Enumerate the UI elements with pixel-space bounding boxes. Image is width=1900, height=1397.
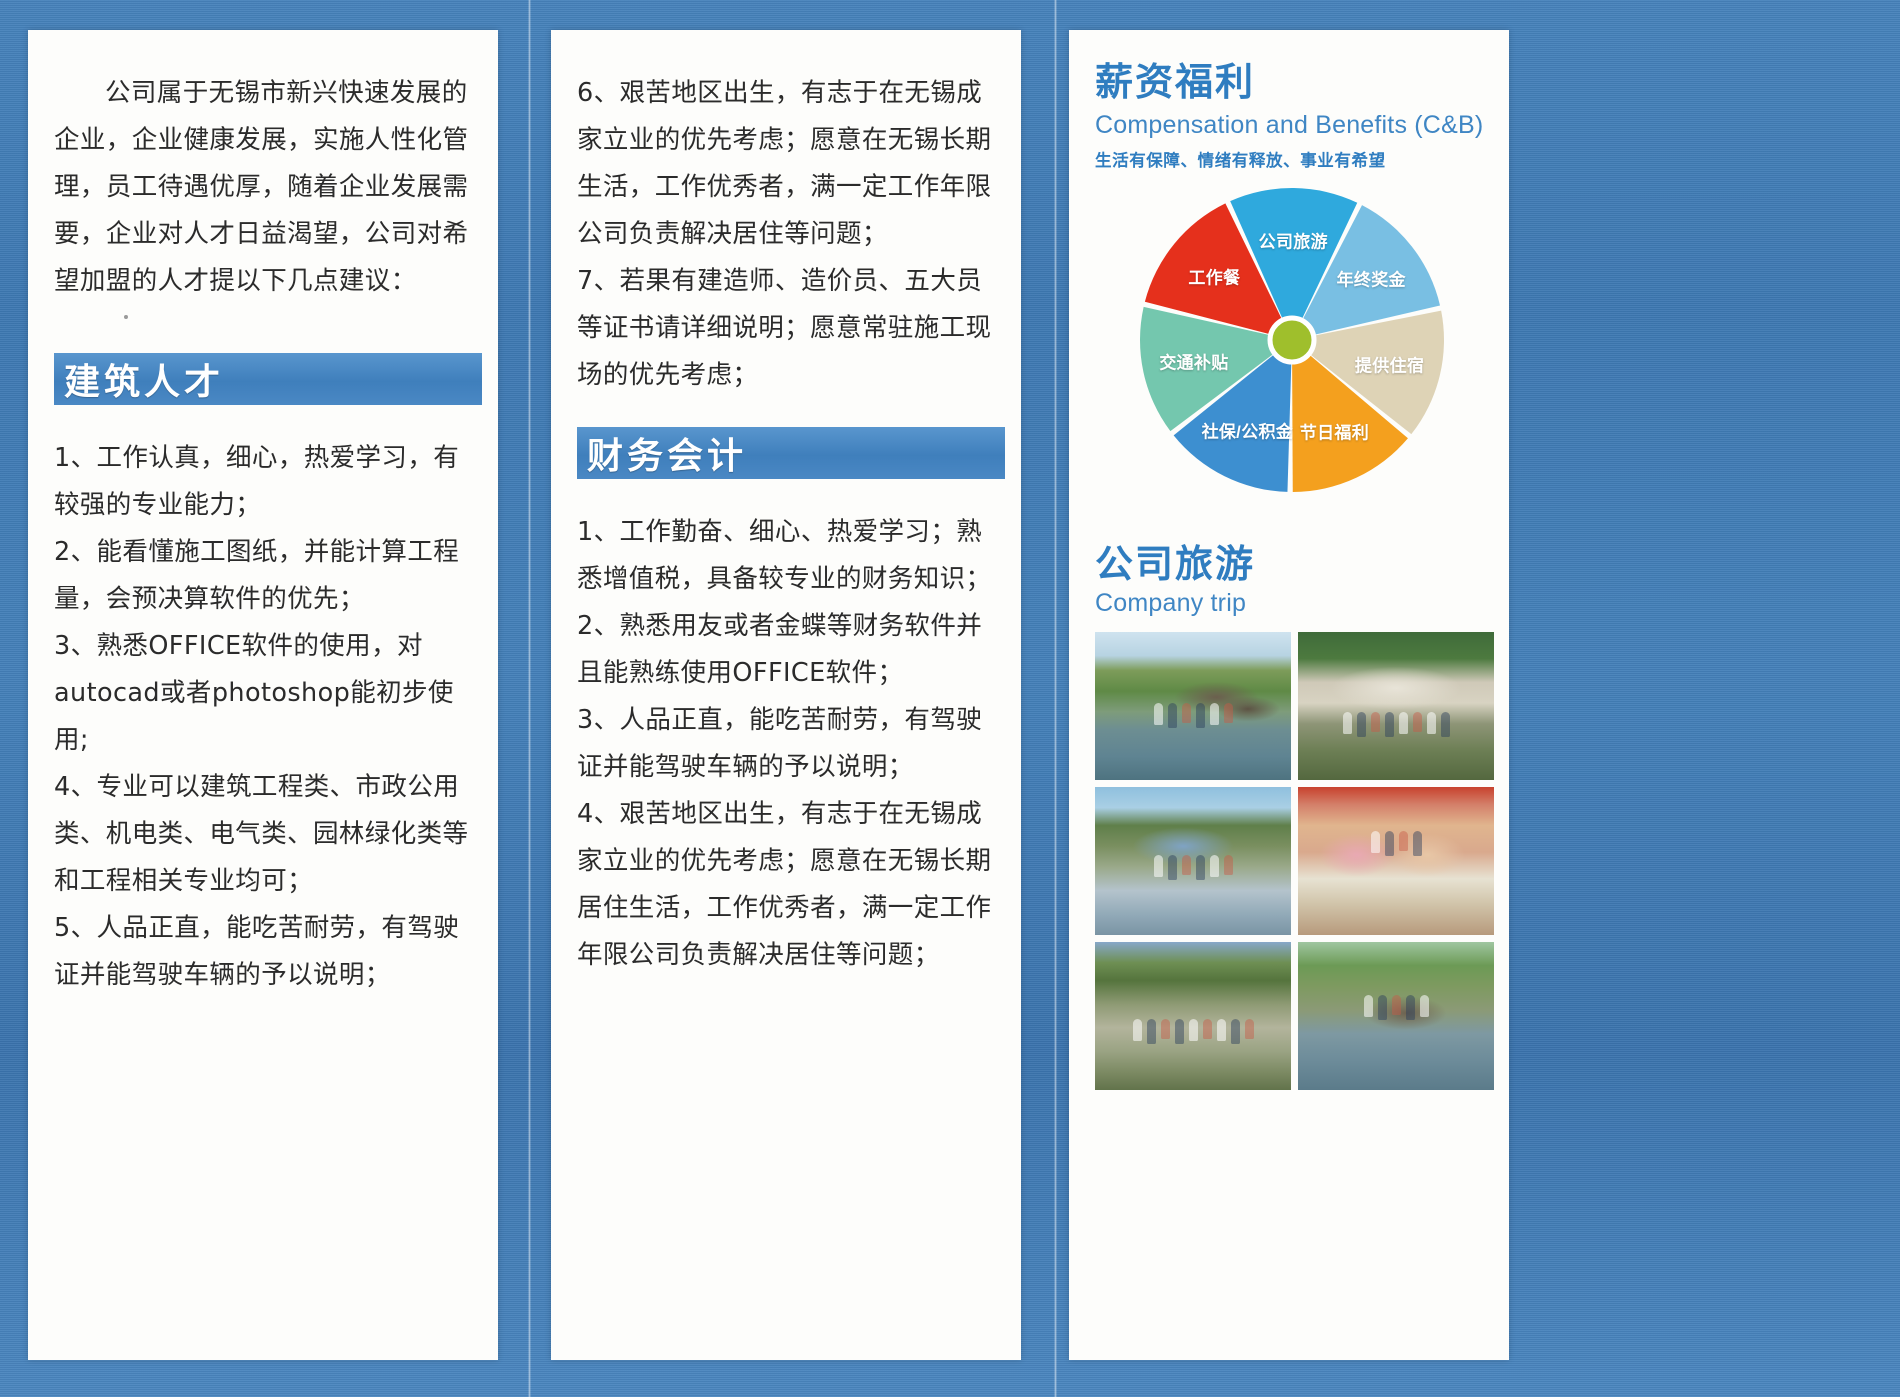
section-heading-construction: 建筑人才 — [64, 353, 224, 405]
requirement-list-construction-continued: 6、艰苦地区出生，有志于在无锡成家立业的优先考虑；愿意在无锡长期生活，工作优秀者… — [551, 30, 1021, 399]
brochure-sheet: 公司属于无锡市新兴快速发展的企业，企业健康发展，实施人性化管理，员工待遇优厚，随… — [0, 0, 1900, 1397]
section-bar-finance: 财务会计 — [577, 427, 1005, 479]
photo-group-hill — [1298, 632, 1494, 780]
intro-paragraph: 公司属于无锡市新兴快速发展的企业，企业健康发展，实施人性化管理，员工待遇优厚，随… — [28, 30, 498, 305]
pie-slice-label-5: 社保/公积金 — [1202, 417, 1294, 442]
list-item: 4、专业可以建筑工程类、市政公用类、机电类、电气类、园林绿化类等和工程相关专业均… — [54, 764, 482, 905]
requirement-list-construction: 1、工作认真，细心，热爱学习，有较强的专业能力； 2、能看懂施工图纸，并能计算工… — [28, 429, 498, 999]
company-trip-heading-en: Company trip — [1095, 589, 1487, 618]
list-item: 2、能看懂施工图纸，并能计算工程量，会预决算软件的优先； — [54, 529, 482, 623]
panel-construction-talent: 公司属于无锡市新兴快速发展的企业，企业健康发展，实施人性化管理，员工待遇优厚，随… — [28, 30, 498, 1360]
pie-center-hub — [1270, 318, 1314, 362]
list-item: 6、艰苦地区出生，有志于在无锡成家立业的优先考虑；愿意在无锡长期生活，工作优秀者… — [577, 70, 1005, 258]
list-item: 1、工作勤奋、细心、热爱学习；熟悉增值税，具备较专业的财务知识； — [577, 509, 1005, 603]
scan-artifact-dot — [124, 315, 128, 319]
company-trip-photo-grid — [1095, 632, 1487, 1090]
pie-slice-label-3: 提供住宿 — [1355, 351, 1424, 376]
benefits-pie-chart: 公司旅游年终奖金提供住宿节日福利社保/公积金交通补贴工作餐 — [1091, 185, 1483, 515]
pie-slice-label-6: 交通补贴 — [1159, 349, 1228, 374]
list-item: 5、人品正直，能吃苦耐劳，有驾驶证并能驾驶车辆的予以说明； — [54, 905, 482, 999]
section-bar-construction: 建筑人才 — [54, 353, 482, 405]
photo-indoor-dining — [1298, 787, 1494, 935]
list-item: 1、工作认真，细心，热爱学习，有较强的专业能力； — [54, 435, 482, 529]
section-heading-finance: 财务会计 — [587, 427, 747, 479]
photo-group-outdoor — [1095, 942, 1291, 1090]
pie-slice-label-7: 工作餐 — [1188, 264, 1240, 289]
pie-slice-label-4: 节日福利 — [1300, 418, 1369, 443]
requirement-list-finance: 1、工作勤奋、细心、热爱学习；熟悉增值税，具备较专业的财务知识； 2、熟悉用友或… — [551, 503, 1021, 979]
panel-finance-accounting: 6、艰苦地区出生，有志于在无锡成家立业的优先考虑；愿意在无锡长期生活，工作优秀者… — [551, 30, 1021, 1360]
list-item: 3、熟悉OFFICE软件的使用，对autocad或者photoshop能初步使用… — [54, 623, 482, 764]
pie-slice-label-2: 年终奖金 — [1337, 266, 1406, 291]
compensation-heading: 薪资福利 — [1095, 60, 1487, 106]
list-item: 7、若果有建造师、造价员、五大员等证书请详细说明；愿意常驻施工现场的优先考虑； — [577, 258, 1005, 399]
photo-elephant-ride — [1298, 942, 1494, 1090]
photo-group-water — [1095, 787, 1291, 935]
panel-compensation-benefits: 薪资福利 Compensation and Benefits (C&B) 生活有… — [1069, 30, 1509, 1360]
list-item: 3、人品正直，能吃苦耐劳，有驾驶证并能驾驶车辆的予以说明； — [577, 697, 1005, 791]
compensation-tagline: 生活有保障、情绪有释放、事业有希望 — [1095, 147, 1487, 171]
compensation-heading-en: Compensation and Benefits (C&B) — [1095, 108, 1487, 142]
pie-slice-label-1: 公司旅游 — [1259, 227, 1328, 252]
photo-elephant-river — [1095, 632, 1291, 780]
company-trip-heading: 公司旅游 — [1095, 533, 1487, 588]
list-item: 4、艰苦地区出生，有志于在无锡成家立业的优先考虑；愿意在无锡长期居住生活，工作优… — [577, 791, 1005, 979]
list-item: 2、熟悉用友或者金蝶等财务软件并且能熟练使用OFFICE软件； — [577, 603, 1005, 697]
